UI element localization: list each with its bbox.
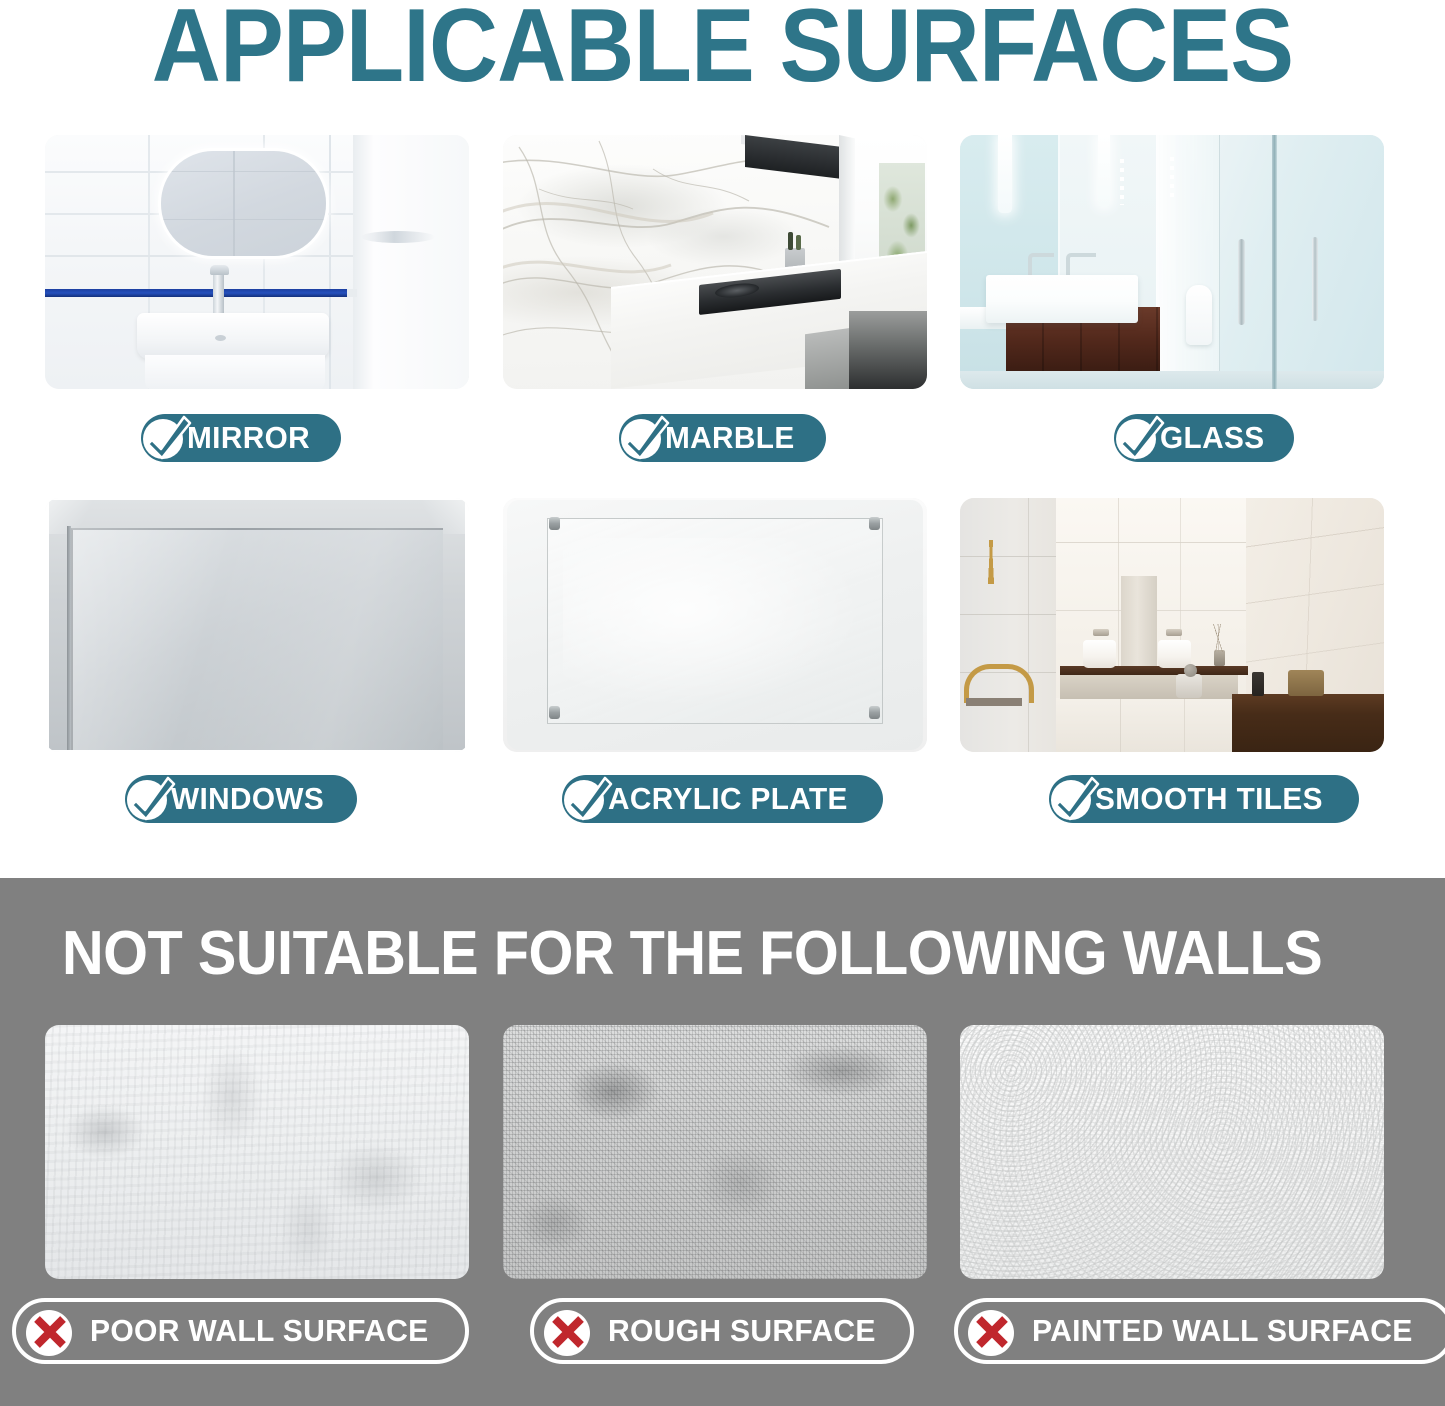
check-circle-icon xyxy=(139,411,193,465)
pendant-light-2 xyxy=(1098,135,1110,207)
applicable-badges-row-1: MIRROR MARBLE xyxy=(0,414,1445,462)
wall-tap-right xyxy=(1166,629,1182,636)
led-oval-mirror xyxy=(161,151,326,256)
x-circle-icon xyxy=(24,1308,74,1358)
pendant-light xyxy=(998,135,1012,213)
check-circle-icon xyxy=(617,411,671,465)
dried-branch-vase xyxy=(1206,624,1232,666)
blue-tile-stripe xyxy=(45,289,347,297)
stripe-end xyxy=(347,289,357,297)
wall-tap-left xyxy=(1093,629,1109,636)
washbasin xyxy=(137,313,329,359)
standoff-mount-bottom-right xyxy=(869,706,880,719)
badge-label: WINDOWS xyxy=(171,781,324,817)
badge-windows[interactable]: WINDOWS xyxy=(125,775,357,823)
shower-door-edge xyxy=(1272,135,1277,389)
x-circle-icon xyxy=(542,1308,592,1358)
surface-image-marble xyxy=(503,135,927,389)
badge-acrylic-plate[interactable]: ACRYLIC PLATE xyxy=(562,775,884,823)
surface-image-acrylic-plate xyxy=(503,498,927,752)
wall-panel xyxy=(353,135,469,389)
badge-label: POOR WALL SURFACE xyxy=(90,1313,429,1349)
console-table xyxy=(1232,694,1384,752)
bad-surface-image-poor-wall xyxy=(45,1025,469,1279)
wall-cabinet xyxy=(1060,675,1238,699)
frosted-glass-divider xyxy=(1156,135,1220,389)
badge-label: PAINTED WALL SURFACE xyxy=(1032,1313,1413,1349)
vessel-sink xyxy=(986,275,1138,323)
badge-marble[interactable]: MARBLE xyxy=(619,414,826,462)
badge-painted-wall-surface[interactable]: PAINTED WALL SURFACE xyxy=(954,1298,1445,1364)
toilet xyxy=(1186,285,1212,345)
wall-column xyxy=(1121,576,1157,672)
badge-label: GLASS xyxy=(1160,420,1264,456)
bad-surface-image-painted-wall xyxy=(960,1025,1384,1279)
floor xyxy=(960,371,1384,389)
wall-faucet-2 xyxy=(1066,253,1096,275)
bad-surface-image-rough xyxy=(503,1025,927,1279)
badge-smooth-tiles[interactable]: SMOOTH TILES xyxy=(1049,775,1358,823)
shower-door-handle-2 xyxy=(1312,237,1318,321)
ceiling-light-strip xyxy=(1120,159,1124,205)
surface-image-mirror xyxy=(45,135,469,389)
surface-image-windows xyxy=(45,498,469,752)
gold-chair xyxy=(964,664,1026,750)
standoff-mount-bottom-left xyxy=(549,706,560,719)
surface-image-glass xyxy=(960,135,1384,389)
check-circle-icon xyxy=(1112,411,1166,465)
ceiling-light-strip-2 xyxy=(1170,157,1174,199)
badge-label: ROUGH SURFACE xyxy=(608,1313,876,1349)
vessel-basin-left xyxy=(1083,640,1116,668)
badge-mirror[interactable]: MIRROR xyxy=(141,414,341,462)
applicable-badges-row-2: WINDOWS ACRYLIC PLATE xyxy=(0,775,1445,823)
badge-rough-surface[interactable]: ROUGH SURFACE xyxy=(530,1298,914,1364)
page-title-not-suitable: NOT SUITABLE FOR THE FOLLOWING WALLS xyxy=(62,918,1322,990)
check-circle-icon xyxy=(123,772,177,826)
badge-label: SMOOTH TILES xyxy=(1095,781,1323,817)
standoff-mount-top-left xyxy=(549,517,560,530)
page-title-applicable: APPLICABLE SURFACES xyxy=(58,0,1387,104)
check-circle-icon xyxy=(560,772,614,826)
badge-label: MIRROR xyxy=(187,420,310,456)
badge-glass[interactable]: GLASS xyxy=(1114,414,1295,462)
surface-image-smooth-tiles xyxy=(960,498,1384,752)
badge-poor-wall-surface[interactable]: POOR WALL SURFACE xyxy=(12,1298,469,1364)
chair-legs xyxy=(968,540,1014,584)
badge-label: ACRYLIC PLATE xyxy=(608,781,848,817)
lower-cabinet xyxy=(849,311,927,389)
shower-door-handle xyxy=(1238,239,1245,325)
glass-reflection xyxy=(71,528,443,750)
table-accessories xyxy=(1242,668,1382,696)
wall-faucet xyxy=(1028,253,1054,275)
faucet xyxy=(213,272,224,318)
badge-label: MARBLE xyxy=(665,420,795,456)
tiled-floor xyxy=(1056,698,1246,752)
acrylic-highlight xyxy=(563,538,863,708)
not-suitable-badges-row: POOR WALL SURFACE ROUGH SURFACE xyxy=(0,1298,1445,1364)
glass-jar xyxy=(1172,664,1206,698)
vanity-cabinet xyxy=(145,355,325,389)
x-circle-icon xyxy=(966,1308,1016,1358)
check-circle-icon xyxy=(1047,772,1101,826)
infographic-page: APPLICABLE SURFACES xyxy=(0,0,1445,1406)
standoff-mount-top-right xyxy=(869,517,880,530)
